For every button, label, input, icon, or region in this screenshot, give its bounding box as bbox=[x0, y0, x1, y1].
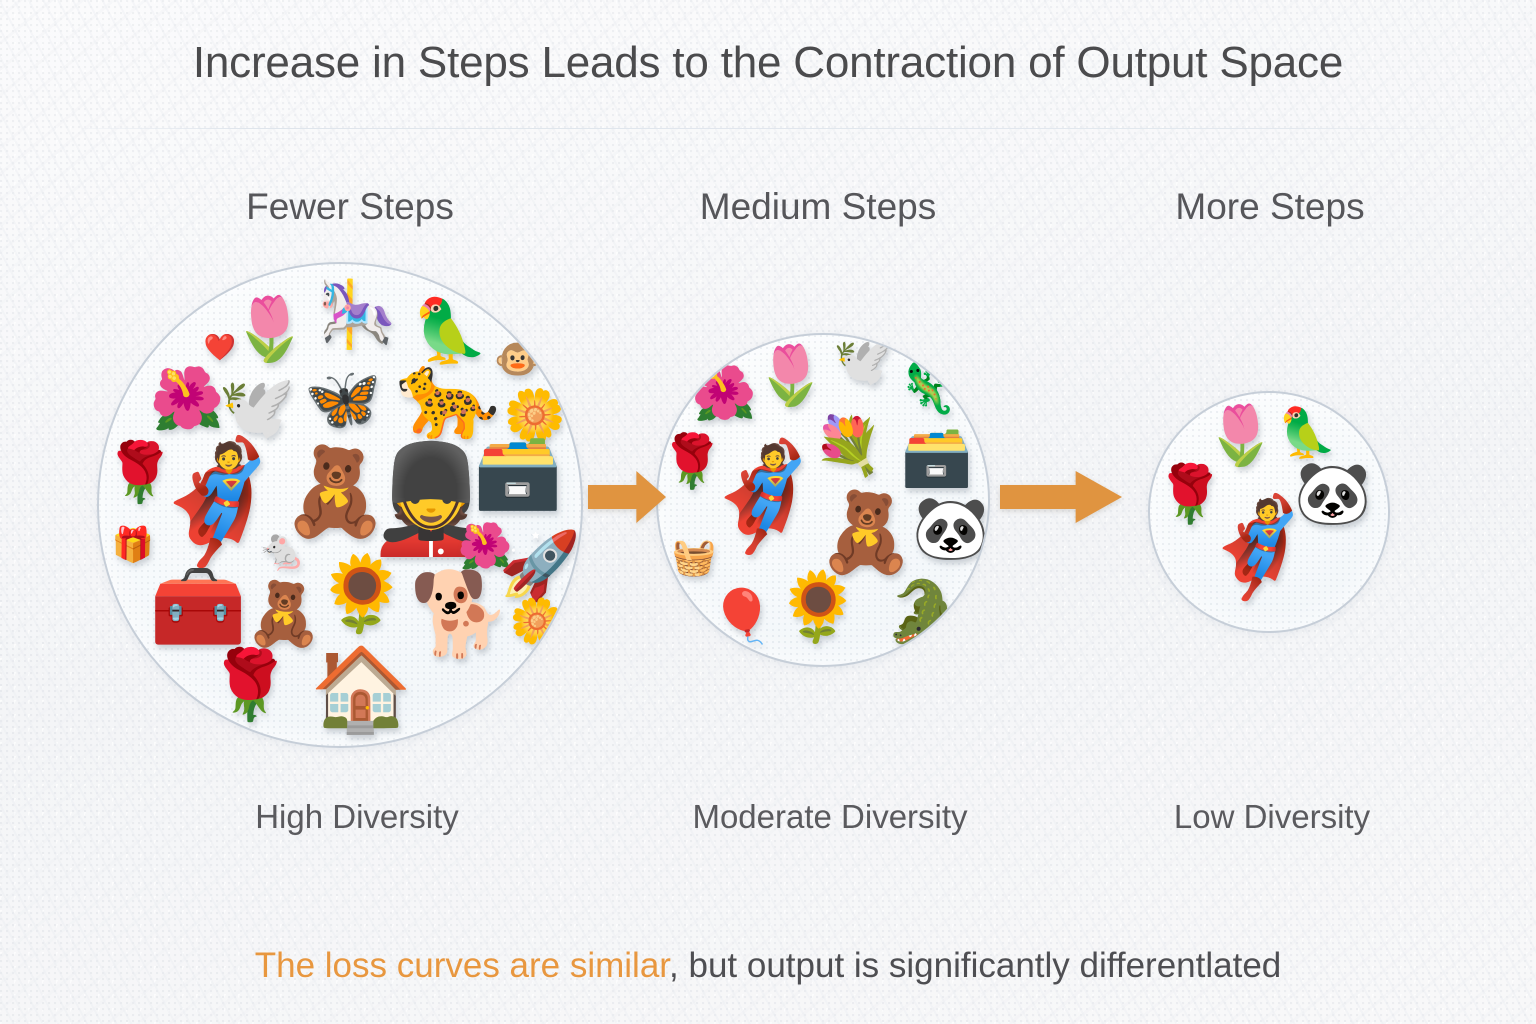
output-space-bubble-more: 🌷🦜🌹🦸🐼 bbox=[1148, 391, 1390, 633]
monkey-face-icon: 🐵 bbox=[494, 341, 541, 379]
bluebird-icon: 🕊️ bbox=[218, 377, 295, 439]
footer-rest: , but output is significantly differentl… bbox=[669, 946, 1281, 985]
blossom-icon: 🌺 bbox=[150, 369, 225, 429]
bird-icon: 🕊️ bbox=[833, 338, 893, 386]
flower-bouquet-icon: 💐 bbox=[813, 418, 883, 474]
butterfly-icon: 🦋 bbox=[304, 369, 381, 431]
column-caption-medium: Moderate Diversity bbox=[692, 798, 967, 836]
column-caption-fewer: High Diversity bbox=[255, 798, 459, 836]
output-space-bubble-fewer: 🌷❤️🎠🦜🐵🌺🕊️🦋🐆🌼🌹🦸🧸💂🗃️🎁🐁🌺🚀🧰🧸🌻🐕🌼🌹🏠 bbox=[97, 262, 583, 748]
mouse-toy-icon: 🐁 bbox=[257, 530, 307, 570]
violet-flower-icon: 🌻 bbox=[776, 573, 861, 641]
tulip-icon: 🌷 bbox=[755, 347, 827, 405]
knight-grey-icon: 🦸 bbox=[698, 445, 828, 549]
wooden-chest-icon: 🗃️ bbox=[473, 436, 563, 508]
blossom-icon: 🌺 bbox=[692, 368, 757, 420]
panda-face-icon: 🐼 bbox=[1294, 463, 1371, 525]
hobby-horse-icon: 🎠 bbox=[317, 282, 397, 346]
teddy-bear-icon: 🧸 bbox=[817, 493, 914, 571]
column-caption-more: Low Diversity bbox=[1174, 798, 1370, 836]
violet-flower-icon: 🌻 bbox=[316, 557, 408, 631]
yurt-house-icon: 🏠 bbox=[310, 649, 412, 731]
puppy-cape-icon: 🐕 bbox=[409, 574, 511, 656]
arrow-fewer-to-medium bbox=[588, 469, 666, 525]
gold-chest-icon: 🧰 bbox=[149, 567, 246, 645]
tulip-icon: 🌷 bbox=[231, 299, 308, 361]
red-fan-icon: 🎈 bbox=[710, 591, 775, 643]
column-heading-fewer: Fewer Steps bbox=[246, 186, 454, 228]
lizard-icon: 🦎 bbox=[897, 366, 957, 414]
red-tulip-bloom-icon: 🌹 bbox=[208, 651, 293, 719]
marigold-icon: 🌼 bbox=[510, 600, 565, 644]
rocket-icon: 🚀 bbox=[499, 532, 581, 598]
diagram-stage: Fewer Steps🌷❤️🎠🦜🐵🌺🕊️🦋🐆🌼🌹🦸🧸💂🗃️🎁🐁🌺🚀🧰🧸🌻🐕🌼🌹🏠… bbox=[0, 0, 1536, 1024]
gift-blocks-icon: 🎁 bbox=[112, 528, 154, 562]
output-space-bubble-medium: 🌺🌷🕊️🦎🌹🦸💐🗃️🧺🧸🐼🎈🌻🐊 bbox=[656, 333, 990, 667]
wooden-chest-icon: 🗃️ bbox=[901, 428, 973, 486]
diagram-canvas: Increase in Steps Leads to the Contracti… bbox=[0, 0, 1536, 1024]
heart-icon: ❤️ bbox=[204, 334, 236, 360]
column-heading-medium: Medium Steps bbox=[700, 186, 937, 228]
leopard-icon: 🐆 bbox=[396, 353, 501, 437]
blue-doll-icon: 🧸 bbox=[245, 584, 322, 646]
panda-face-icon: 🐼 bbox=[912, 498, 989, 560]
footer-caption: The loss curves are similar, but output … bbox=[0, 946, 1536, 986]
parrot-icon: 🦜 bbox=[1277, 410, 1337, 458]
small-basket-icon: 🧺 bbox=[672, 539, 717, 575]
arrow-medium-to-more bbox=[1000, 469, 1122, 525]
tulip-icon: 🌷 bbox=[1205, 407, 1277, 465]
blue-crocodile-icon: 🐊 bbox=[885, 582, 960, 642]
column-heading-more: More Steps bbox=[1175, 186, 1364, 228]
footer-highlight: The loss curves are similar bbox=[255, 946, 669, 985]
